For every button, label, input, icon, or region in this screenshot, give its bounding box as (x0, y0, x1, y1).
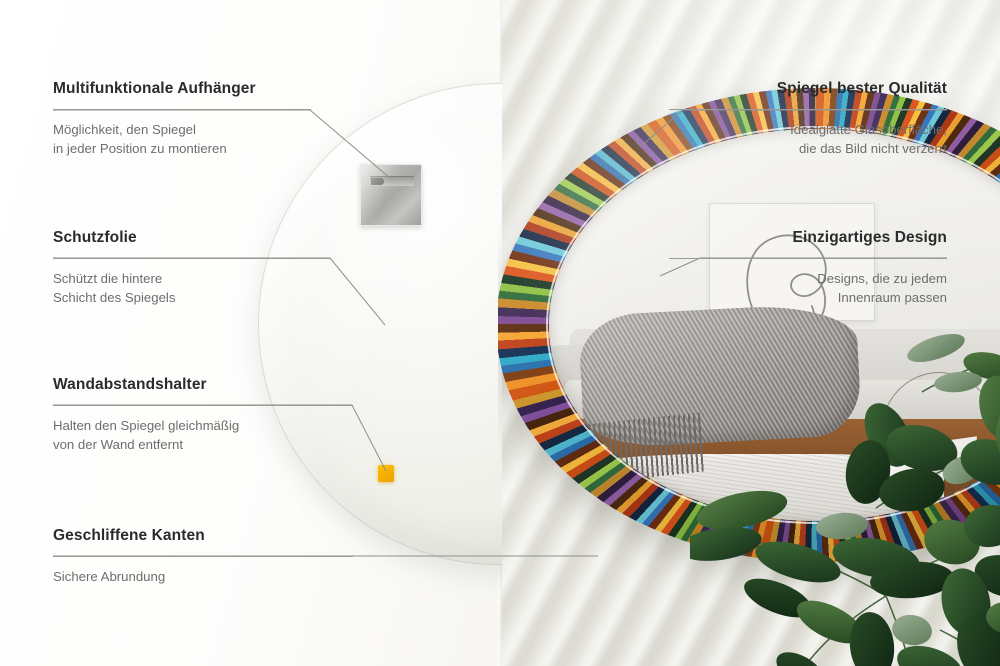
callout-description: Schützt die hintere Schicht des Spiegels (53, 269, 331, 307)
callout-title: Einzigartiges Design (669, 229, 947, 248)
callout-title: Geschliffene Kanten (53, 527, 353, 546)
callout-multifunktionale-aufhaenger: Multifunktionale Aufhänger Möglichkeit, … (53, 80, 311, 158)
callout-spiegel-bester-qualitaet: Spiegel bester Qualität Idealglatte Glas… (669, 80, 947, 158)
callout-rule (53, 109, 311, 110)
callout-rule (669, 109, 947, 110)
infographic-canvas: Multifunktionale Aufhänger Möglichkeit, … (0, 0, 1000, 666)
callout-einzigartiges-design: Einzigartiges Design Designs, die zu jed… (669, 229, 947, 307)
callout-rule (53, 556, 353, 557)
callout-geschliffene-kanten: Geschliffene Kanten Sichere Abrundung (53, 527, 353, 586)
callout-title: Schutzfolie (53, 229, 331, 248)
callout-description: Möglichkeit, den Spiegel in jeder Positi… (53, 120, 311, 158)
callout-schutzfolie: Schutzfolie Schützt die hintere Schicht … (53, 229, 331, 307)
hanger-sheen (361, 165, 421, 225)
callout-description: Designs, die zu jedem Innenraum passen (669, 269, 947, 307)
callout-description: Idealglatte Glasoberfläche, die das Bild… (669, 120, 947, 158)
callout-rule (53, 405, 353, 406)
callout-description: Sichere Abrundung (53, 567, 353, 586)
callout-rule (53, 258, 331, 259)
callout-title: Spiegel bester Qualität (669, 80, 947, 99)
round-mirror (498, 88, 1000, 562)
wall-spacer (378, 465, 394, 482)
callout-rule (669, 258, 947, 259)
callout-wandabstandshalter: Wandabstandshalter Halten den Spiegel gl… (53, 376, 353, 454)
callout-description: Halten den Spiegel gleichmäßig von der W… (53, 416, 353, 454)
callout-title: Multifunktionale Aufhänger (53, 80, 311, 99)
hanger-plate (360, 164, 422, 226)
callout-title: Wandabstandshalter (53, 376, 353, 395)
